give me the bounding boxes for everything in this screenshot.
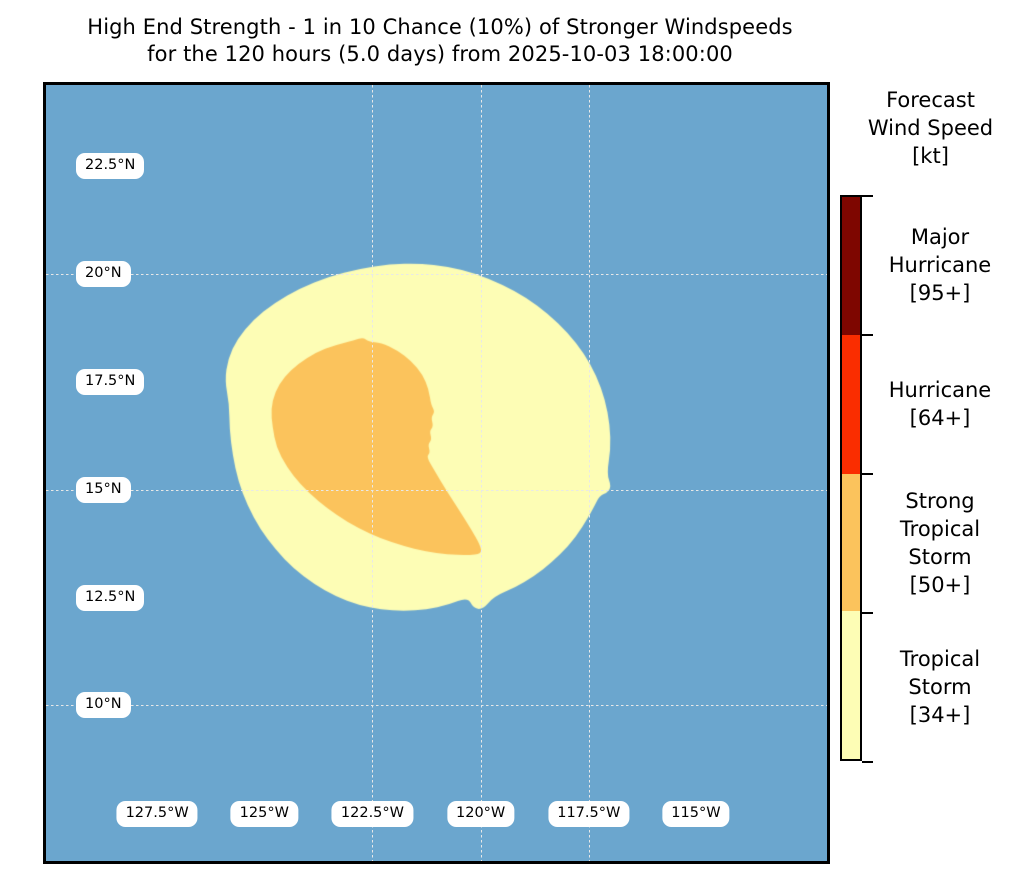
colorbar-segment-34 [842,611,860,759]
colorbar-segment-95 [842,197,860,335]
lon-tick-label: 115°W [664,803,727,825]
page-title: High End Strength - 1 in 10 Chance (10%)… [0,14,880,68]
colorbar-tick-34 [862,761,873,763]
wind-speed-colorbar[interactable] [840,195,862,761]
lon-tick-label: 122.5°W [334,803,411,825]
colorbar-title: Forecast Wind Speed [kt] [848,86,1013,170]
wind-speed-probability-contours [46,85,827,861]
lon-tick-label: 127.5°W [119,803,196,825]
lon-tick-label: 120°W [449,803,512,825]
colorbar-tick-50 [862,612,873,614]
lat-tick-label: 20°N [78,263,129,285]
lat-tick-label: 17.5°N [78,371,142,393]
colorbar-label-34: Tropical Storm [34+] [866,645,1014,729]
colorbar-segment-64 [842,335,860,473]
colorbar-tick-95 [862,334,873,336]
forecast-map-panel[interactable]: 22.5°N20°N17.5°N15°N12.5°N10°N 127.5°W12… [43,82,830,864]
colorbar-tick-top [862,195,873,197]
colorbar-segment-50 [842,474,860,612]
colorbar-label-95: Major Hurricane [95+] [866,223,1014,307]
colorbar-tick-64 [862,473,873,475]
lat-tick-label: 10°N [78,694,129,716]
lon-tick-label: 125°W [233,803,296,825]
lat-tick-label: 12.5°N [78,587,142,609]
colorbar-label-64: Hurricane [64+] [866,376,1014,432]
lat-tick-label: 15°N [78,479,129,501]
colorbar-label-50: Strong Tropical Storm [50+] [866,487,1014,599]
lat-tick-label: 22.5°N [78,155,142,177]
lon-tick-label: 117.5°W [550,803,627,825]
